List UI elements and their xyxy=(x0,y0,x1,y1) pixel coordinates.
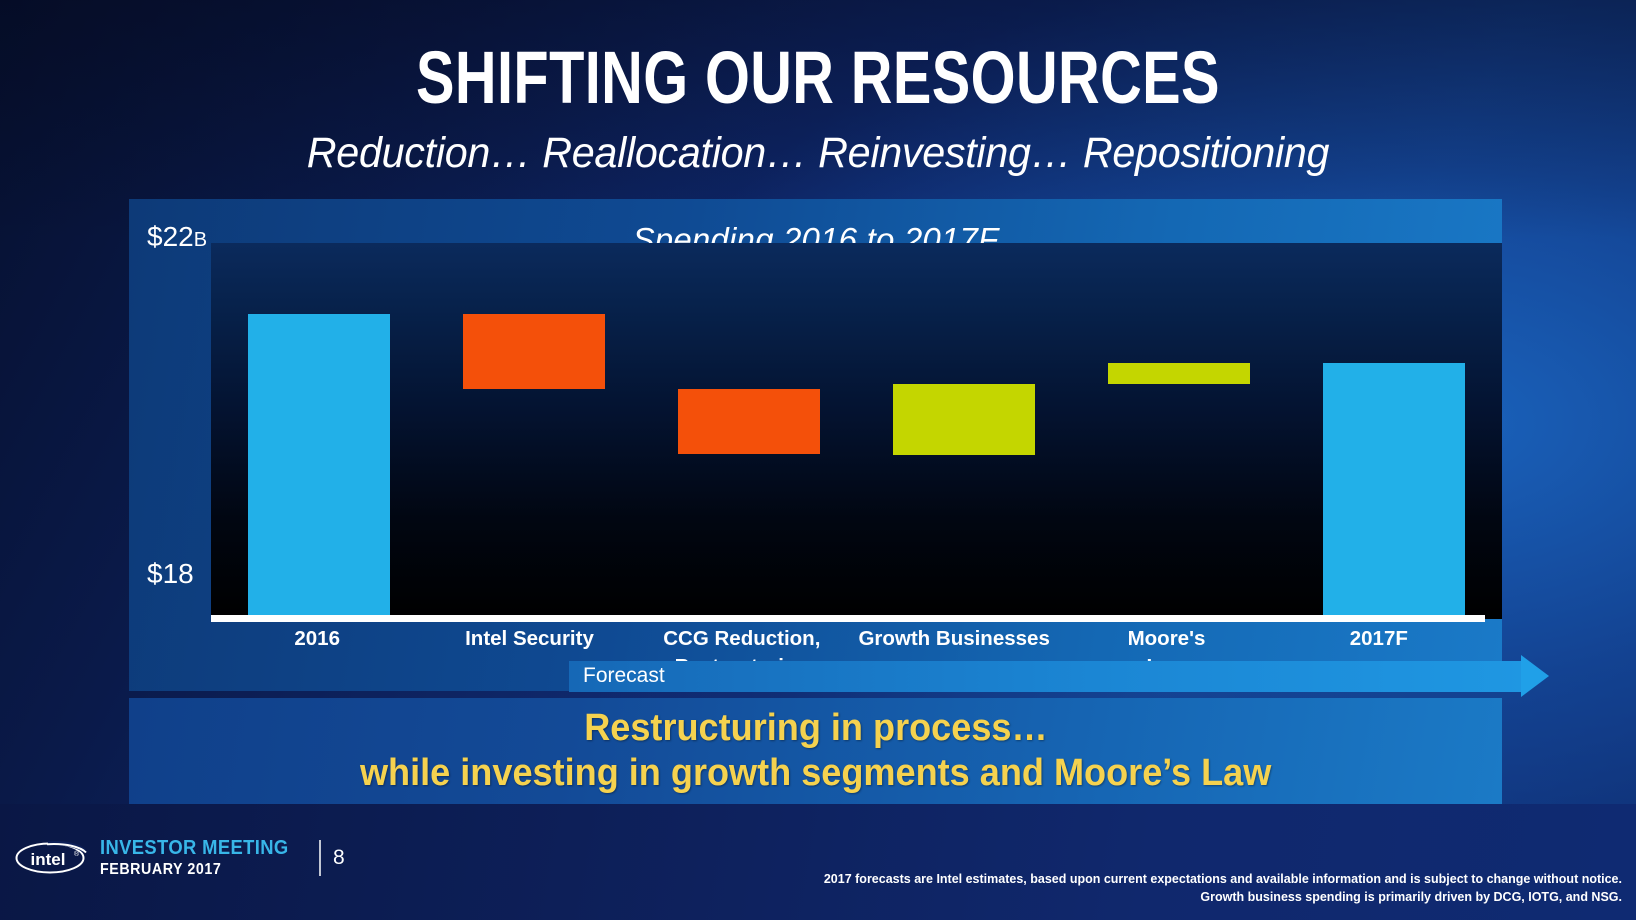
chart-category-label-line: CCG Reduction, xyxy=(636,625,848,653)
chart-category-label-line: Moore's xyxy=(1060,625,1272,653)
page-subtitle: Reduction… Reallocation… Reinvesting… Re… xyxy=(33,129,1604,178)
chart-bar xyxy=(1323,363,1465,619)
chart-category-label-line: Intel Security xyxy=(423,625,635,653)
chart-plot-area xyxy=(211,243,1502,619)
slide-canvas: SHIFTING OUR RESOURCES Reduction… Reallo… xyxy=(0,0,1636,920)
footer-divider xyxy=(319,840,321,876)
callout-banner: Restructuring in process… while investin… xyxy=(129,698,1502,804)
svg-text:intel: intel xyxy=(31,850,66,869)
disclaimer-line-1: 2017 forecasts are Intel estimates, base… xyxy=(824,870,1622,888)
svg-text:®: ® xyxy=(74,850,80,858)
chart-category-label-line: Growth Businesses xyxy=(848,625,1060,653)
intel-logo-icon: intel ® xyxy=(14,841,90,875)
forecast-label: Forecast xyxy=(583,664,665,688)
forecast-arrow-shaft xyxy=(569,661,1523,692)
chart-panel: $22B $18 Spending 2016 to 2017F 2016Inte… xyxy=(129,199,1502,691)
slide-header: SHIFTING OUR RESOURCES Reduction… Reallo… xyxy=(0,42,1636,178)
forecast-arrow-head-icon xyxy=(1521,655,1549,697)
page-title: SHIFTING OUR RESOURCES xyxy=(180,42,1456,115)
callout-line-1: Restructuring in process… xyxy=(584,706,1047,751)
meeting-title-block: INVESTOR MEETING FEBRUARY 2017 xyxy=(100,838,305,878)
disclaimer-text: 2017 forecasts are Intel estimates, base… xyxy=(824,870,1622,906)
chart-bar xyxy=(463,314,605,389)
chart-category-label-line: 2017F xyxy=(1273,625,1485,653)
chart-bar xyxy=(678,389,820,455)
chart-bar xyxy=(893,384,1035,455)
footer-brand-group: intel ® INVESTOR MEETING FEBRUARY 2017 8 xyxy=(14,838,345,878)
chart-bar xyxy=(248,314,390,620)
disclaimer-line-2: Growth business spending is primarily dr… xyxy=(824,888,1622,906)
forecast-arrow: Forecast xyxy=(569,661,1549,692)
chart-baseline-axis xyxy=(211,615,1485,622)
meeting-date: FEBRUARY 2017 xyxy=(100,862,289,878)
meeting-name: INVESTOR MEETING xyxy=(100,838,289,858)
page-number: 8 xyxy=(333,846,345,870)
chart-bar xyxy=(1108,363,1250,384)
chart-category-label-line: 2016 xyxy=(211,625,423,653)
y-axis-min-label: $18 xyxy=(147,558,194,590)
chart-category-label: 2016 xyxy=(211,622,423,684)
callout-line-2: while investing in growth segments and M… xyxy=(360,751,1271,796)
slide-footer: intel ® INVESTOR MEETING FEBRUARY 2017 8… xyxy=(0,804,1636,920)
